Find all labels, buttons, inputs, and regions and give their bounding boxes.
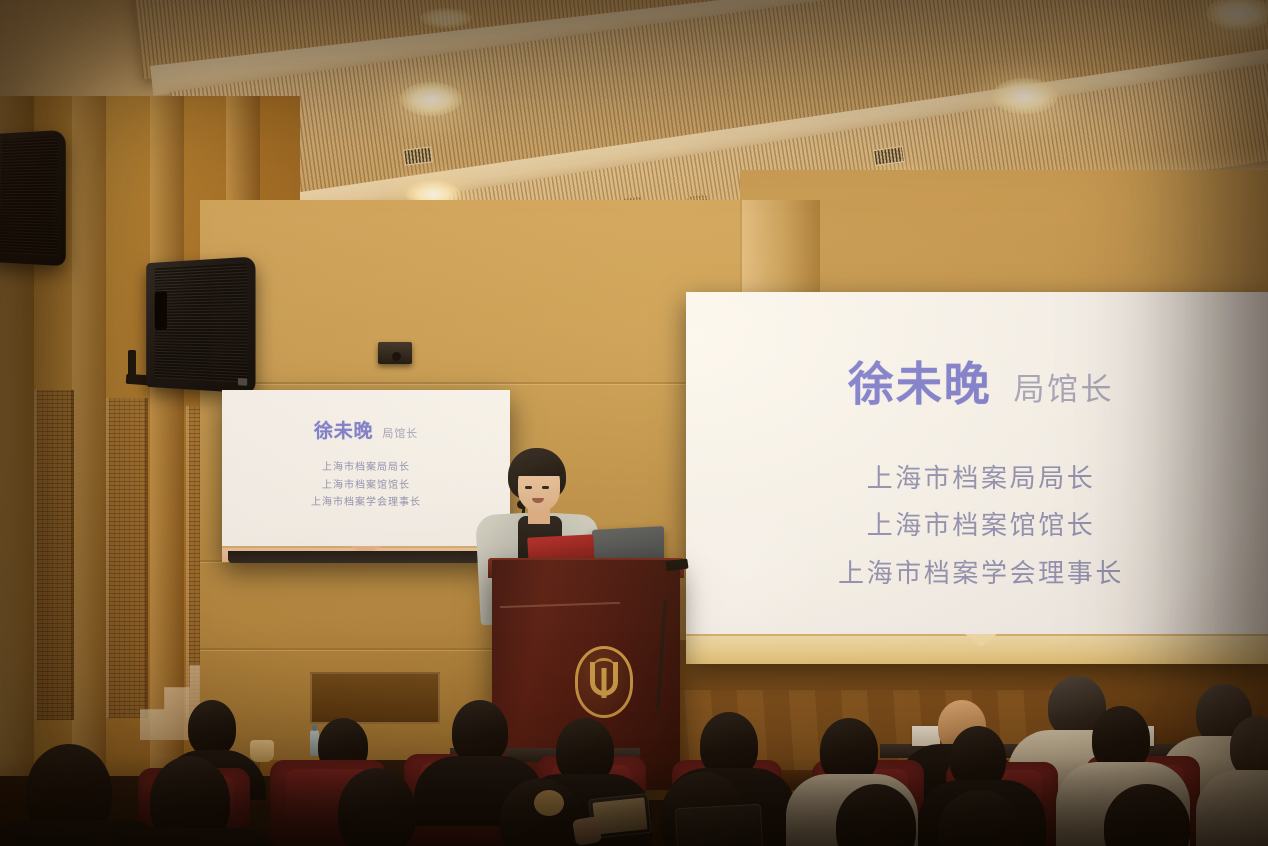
speaker-grille [2, 136, 58, 255]
speaker-grille [155, 263, 247, 382]
presenter-eye-left [525, 486, 532, 489]
presenter-eye-right [542, 486, 549, 489]
phone-screen-2 [679, 808, 759, 846]
shanghai-university-emblem-icon [575, 646, 633, 718]
main-projection-screen-frame[interactable]: 徐未晚 局馆长 上海市档案局局长 上海市档案馆馆长 上海市档案学会理事长 [686, 292, 1268, 664]
main-slide: 徐未晚 局馆长 上海市档案局局长 上海市档案馆馆长 上海市档案学会理事长 [686, 292, 1268, 664]
audience-head-b1 [188, 700, 236, 756]
camera-lens-icon [392, 352, 401, 361]
main-slide-footer [686, 634, 1268, 664]
podium-highlight [500, 602, 620, 608]
secondary-display-bottom-bezel [228, 551, 504, 563]
conference-hall-photo: 徐未晚 局馆长 上海市档案局局长 上海市档案馆馆长 上海市档案学会理事长 徐未晚… [0, 0, 1268, 846]
audience-head-m1 [452, 700, 508, 764]
audience-hand-holding-phone [572, 816, 602, 846]
main-slide-name: 徐未晚 [848, 348, 992, 414]
ceiling-downlight-6 [420, 8, 472, 28]
main-slide-line-2: 上海市档案馆馆长 [686, 503, 1268, 550]
audience-hair-tie-f4 [534, 790, 564, 816]
main-slide-notch-icon [965, 634, 997, 647]
wall-speaker-left-near [146, 256, 255, 393]
tea-cup-1 [250, 740, 274, 762]
wall-strip-3 [150, 96, 184, 776]
audience-shoulders-f2 [110, 828, 282, 846]
ceiling-downlight-2 [992, 78, 1058, 114]
audience-phone-2[interactable] [675, 804, 763, 846]
speaker-driver-port [155, 291, 167, 330]
wall-speaker-left-far [0, 130, 66, 266]
presenter-hair-front [510, 454, 564, 476]
speaker-bracket-post [128, 350, 136, 384]
ceiling-downlight-1 [400, 82, 462, 116]
wall-mesh-panel-1 [34, 390, 74, 720]
wall-mesh-panel-2 [106, 398, 148, 718]
audience-head-f3 [338, 768, 416, 846]
main-slide-line-1: 上海市档案局局长 [686, 456, 1268, 503]
back-wall-seam-1 [200, 382, 760, 384]
ceiling-air-vent-1 [403, 146, 433, 165]
wall-strip-2 [72, 96, 106, 776]
secondary-slide-name: 徐未晚 [314, 416, 373, 443]
main-slide-line-3: 上海市档案学会理事长 [686, 551, 1268, 598]
secondary-slide-line-2: 上海市档案馆馆长 [222, 477, 510, 495]
secondary-display-frame[interactable]: 徐未晚 局馆长 上海市档案局局长 上海市档案馆馆长 上海市档案学会理事长 [222, 390, 510, 562]
wall-recess-panel [310, 672, 440, 724]
secondary-slide-line-3: 上海市档案学会理事长 [222, 494, 510, 512]
secondary-slide-line-1: 上海市档案局局长 [222, 459, 510, 477]
name-card-1 [912, 726, 940, 746]
secondary-slide-role: 局馆长 [382, 425, 418, 441]
emblem-stem [602, 668, 607, 698]
speaker-badge [238, 378, 247, 386]
main-slide-role: 局馆长 [1014, 364, 1114, 409]
phone-screen [592, 797, 647, 834]
secondary-slide: 徐未晚 局馆长 上海市档案局局长 上海市档案馆馆长 上海市档案学会理事长 [222, 390, 510, 562]
ceiling-camera [378, 342, 412, 364]
